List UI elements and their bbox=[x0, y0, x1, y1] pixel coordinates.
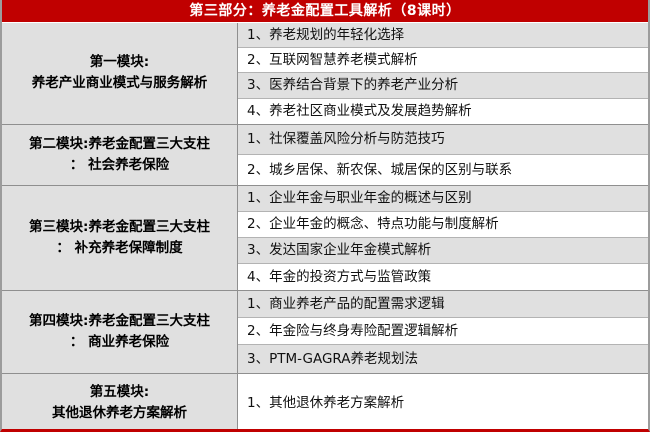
topic-list: 1、社保覆盖风险分析与防范技巧 2、城乡居保、新农保、城居保的区别与联系 bbox=[238, 125, 648, 185]
course-outline-table: 第三部分：养老金配置工具解析（8课时） 第一模块: 养老产业商业模式与服务解析 … bbox=[0, 0, 650, 432]
topic-list: 1、企业年金与职业年金的概述与区别 2、企业年金的概念、特点功能与制度解析 3、… bbox=[238, 186, 648, 290]
topic-item: 1、社保覆盖风险分析与防范技巧 bbox=[238, 125, 648, 155]
module-title-cell: 第五模块: 其他退休养老方案解析 bbox=[2, 374, 238, 432]
module-title-cell: 第四模块:养老金配置三大支柱 ： 商业养老保险 bbox=[2, 291, 238, 373]
section-title: 第三部分：养老金配置工具解析（8课时） bbox=[189, 4, 460, 18]
module-row: 第五模块: 其他退休养老方案解析 1、其他退休养老方案解析 bbox=[2, 374, 648, 432]
topic-item: 1、养老规划的年轻化选择 bbox=[238, 23, 648, 48]
topic-item: 2、年金险与终身寿险配置逻辑解析 bbox=[238, 318, 648, 345]
module-row: 第四模块:养老金配置三大支柱 ： 商业养老保险 1、商业养老产品的配置需求逻辑 … bbox=[2, 291, 648, 374]
topic-list: 1、养老规划的年轻化选择 2、互联网智慧养老模式解析 3、医养结合背景下的养老产… bbox=[238, 23, 648, 124]
topic-item: 3、PTM-GAGRA养老规划法 bbox=[238, 345, 648, 372]
module-title-line: 养老产业商业模式与服务解析 bbox=[32, 73, 208, 94]
topic-item: 4、养老社区商业模式及发展趋势解析 bbox=[238, 99, 648, 124]
module-row: 第一模块: 养老产业商业模式与服务解析 1、养老规划的年轻化选择 2、互联网智慧… bbox=[2, 23, 648, 125]
module-row: 第三模块:养老金配置三大支柱 ： 补充养老保障制度 1、企业年金与职业年金的概述… bbox=[2, 186, 648, 291]
topic-list: 1、其他退休养老方案解析 bbox=[238, 374, 648, 432]
module-title-line: 第二模块:养老金配置三大支柱 bbox=[29, 134, 210, 155]
module-row: 第二模块:养老金配置三大支柱 ： 社会养老保险 1、社保覆盖风险分析与防范技巧 … bbox=[2, 125, 648, 186]
module-title-line: 第五模块: bbox=[90, 382, 149, 403]
topic-item: 2、企业年金的概念、特点功能与制度解析 bbox=[238, 212, 648, 238]
module-title-cell: 第二模块:养老金配置三大支柱 ： 社会养老保险 bbox=[2, 125, 238, 185]
topic-item: 1、商业养老产品的配置需求逻辑 bbox=[238, 291, 648, 318]
module-title-line: 其他退休养老方案解析 bbox=[52, 403, 187, 424]
module-title-line: ： 社会养老保险 bbox=[70, 155, 169, 176]
topic-item: 1、企业年金与职业年金的概述与区别 bbox=[238, 186, 648, 212]
module-title-line: 第三模块:养老金配置三大支柱 bbox=[29, 217, 210, 238]
topic-item: 1、其他退休养老方案解析 bbox=[238, 374, 648, 432]
section-title-bar: 第三部分：养老金配置工具解析（8课时） bbox=[2, 0, 648, 22]
topic-item: 4、年金的投资方式与监管政策 bbox=[238, 264, 648, 290]
module-title-line: 第一模块: bbox=[90, 52, 149, 73]
topic-item: 3、医养结合背景下的养老产业分析 bbox=[238, 73, 648, 98]
topic-list: 1、商业养老产品的配置需求逻辑 2、年金险与终身寿险配置逻辑解析 3、PTM-G… bbox=[238, 291, 648, 373]
module-title-line: ： 商业养老保险 bbox=[70, 332, 169, 353]
module-list: 第一模块: 养老产业商业模式与服务解析 1、养老规划的年轻化选择 2、互联网智慧… bbox=[2, 22, 648, 432]
module-title-line: 第四模块:养老金配置三大支柱 bbox=[29, 311, 210, 332]
module-title-cell: 第三模块:养老金配置三大支柱 ： 补充养老保障制度 bbox=[2, 186, 238, 290]
topic-item: 2、互联网智慧养老模式解析 bbox=[238, 48, 648, 73]
module-title-line: ： 补充养老保障制度 bbox=[56, 238, 182, 259]
topic-item: 3、发达国家企业年金模式解析 bbox=[238, 238, 648, 264]
topic-item: 2、城乡居保、新农保、城居保的区别与联系 bbox=[238, 155, 648, 185]
module-title-cell: 第一模块: 养老产业商业模式与服务解析 bbox=[2, 23, 238, 124]
